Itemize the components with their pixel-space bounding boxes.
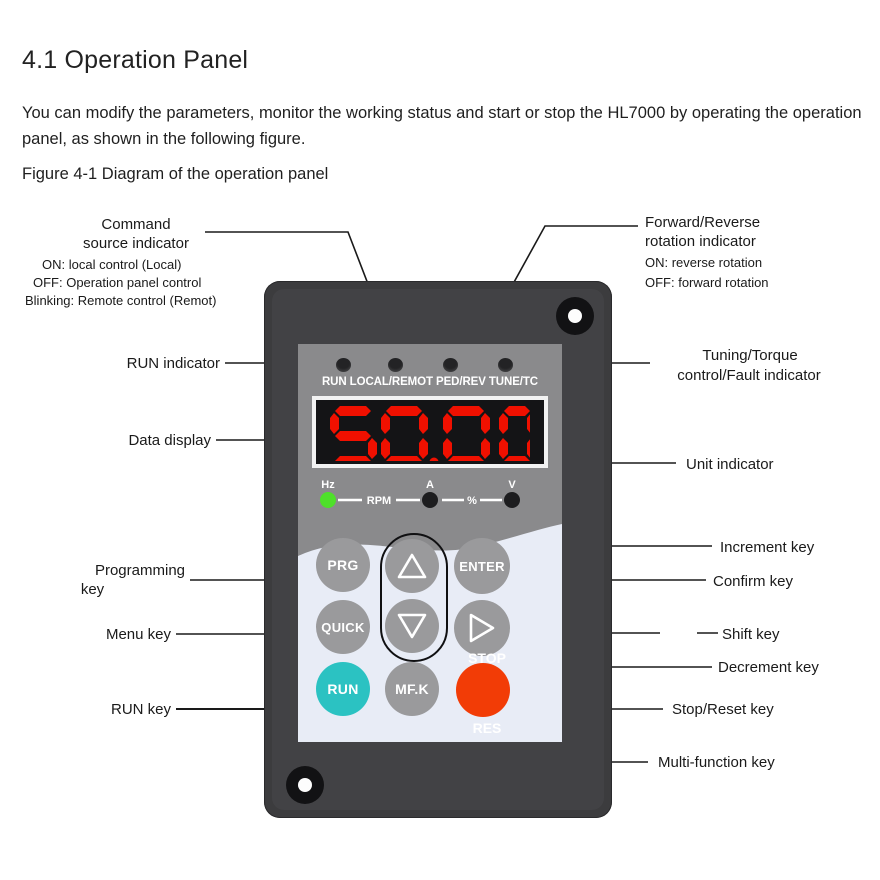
key-decrement[interactable] [385, 599, 439, 653]
label-programming-key-line2: key [0, 580, 185, 599]
key-res-label: RES [473, 720, 502, 736]
label-run-indicator: RUN indicator [15, 354, 220, 373]
key-quick-label: QUICK [321, 620, 364, 635]
triangle-down-icon [397, 613, 427, 639]
unit-label-rpm: RPM [367, 495, 391, 507]
key-prg-label: PRG [327, 557, 358, 573]
led-local-remot [388, 358, 403, 372]
label-shift-key: Shift key [722, 625, 780, 644]
unit-led-a [422, 492, 438, 508]
unit-led-hz [320, 492, 336, 508]
segment-digits [330, 403, 530, 461]
key-run-label: RUN [327, 681, 358, 697]
label-run-key: RUN key [0, 700, 171, 719]
label-increment-key: Increment key [720, 538, 814, 557]
unit-indicator-row: Hz RPM A % V [312, 478, 548, 510]
unit-led-v [504, 492, 520, 508]
status-led-row: RUN LOCAL/REMOT PED/REV TUNE/TC [298, 344, 562, 390]
label-command-source-line1: Command [36, 215, 236, 234]
screw-top-right-icon [556, 297, 594, 335]
unit-label-v: V [508, 479, 516, 491]
label-stop-reset-key: Stop/Reset key [672, 700, 774, 719]
key-enter-label: ENTER [459, 559, 505, 574]
panel-face: RUN LOCAL/REMOT PED/REV TUNE/TC [298, 344, 562, 742]
key-increment[interactable] [385, 539, 439, 593]
unit-label-hz: Hz [321, 479, 335, 491]
label-command-source-blinking: Blinking: Remote control (Remot) [25, 292, 216, 310]
label-tuning-line1: Tuning/Torque [645, 346, 855, 365]
key-enter[interactable]: ENTER [454, 538, 510, 594]
label-unit-indicator: Unit indicator [686, 455, 774, 474]
screw-bottom-left-icon [286, 766, 324, 804]
label-confirm-key: Confirm key [713, 572, 793, 591]
led-run [336, 358, 351, 372]
page-title: 4.1 Operation Panel [22, 46, 248, 75]
key-stop-reset-labels: STOP RES [448, 650, 526, 736]
label-command-source-off: OFF: Operation panel control [33, 274, 201, 292]
label-multi-function-key: Multi-function key [658, 753, 775, 772]
key-shift[interactable] [454, 600, 510, 656]
label-forward-reverse-line2: rotation indicator [645, 232, 756, 251]
key-stop-reset[interactable]: STOP RES [456, 663, 510, 717]
keypad: PRG QUICK RUN [298, 529, 562, 742]
label-command-source-line2: source indicator [36, 234, 236, 253]
operation-panel-device: RUN LOCAL/REMOT PED/REV TUNE/TC [264, 281, 612, 818]
intro-paragraph: You can modify the parameters, monitor t… [22, 100, 870, 152]
led-tune-tc [498, 358, 513, 372]
label-decrement-key: Decrement key [718, 658, 819, 677]
key-quick[interactable]: QUICK [316, 600, 370, 654]
label-command-source-on: ON: local control (Local) [42, 256, 181, 274]
document-page: 4.1 Operation Panel You can modify the p… [0, 0, 880, 880]
key-prg[interactable]: PRG [316, 538, 370, 592]
label-tuning-line2: control/Fault indicator [638, 366, 860, 385]
label-forward-reverse-line1: Forward/Reverse [645, 213, 760, 232]
led-row-label: RUN LOCAL/REMOT PED/REV TUNE/TC [298, 376, 562, 388]
data-display: 50.00 [312, 396, 548, 468]
triangle-right-icon [468, 613, 496, 643]
key-multi-function[interactable]: MF.K [385, 662, 439, 716]
triangle-up-icon [397, 553, 427, 579]
seven-segment-readout [316, 400, 544, 464]
label-data-display: Data display [15, 431, 211, 450]
key-mfk-label: MF.K [395, 681, 429, 697]
label-forward-reverse-on: ON: reverse rotation [645, 254, 762, 272]
figure-caption: Figure 4-1 Diagram of the operation pane… [22, 165, 328, 184]
key-run[interactable]: RUN [316, 662, 370, 716]
label-menu-key: Menu key [0, 625, 171, 644]
label-programming-key-line1: Programming [0, 561, 185, 580]
unit-label-percent: % [467, 495, 477, 507]
led-ped-rev [443, 358, 458, 372]
label-forward-reverse-off: OFF: forward rotation [645, 274, 769, 292]
unit-label-a: A [426, 479, 434, 491]
